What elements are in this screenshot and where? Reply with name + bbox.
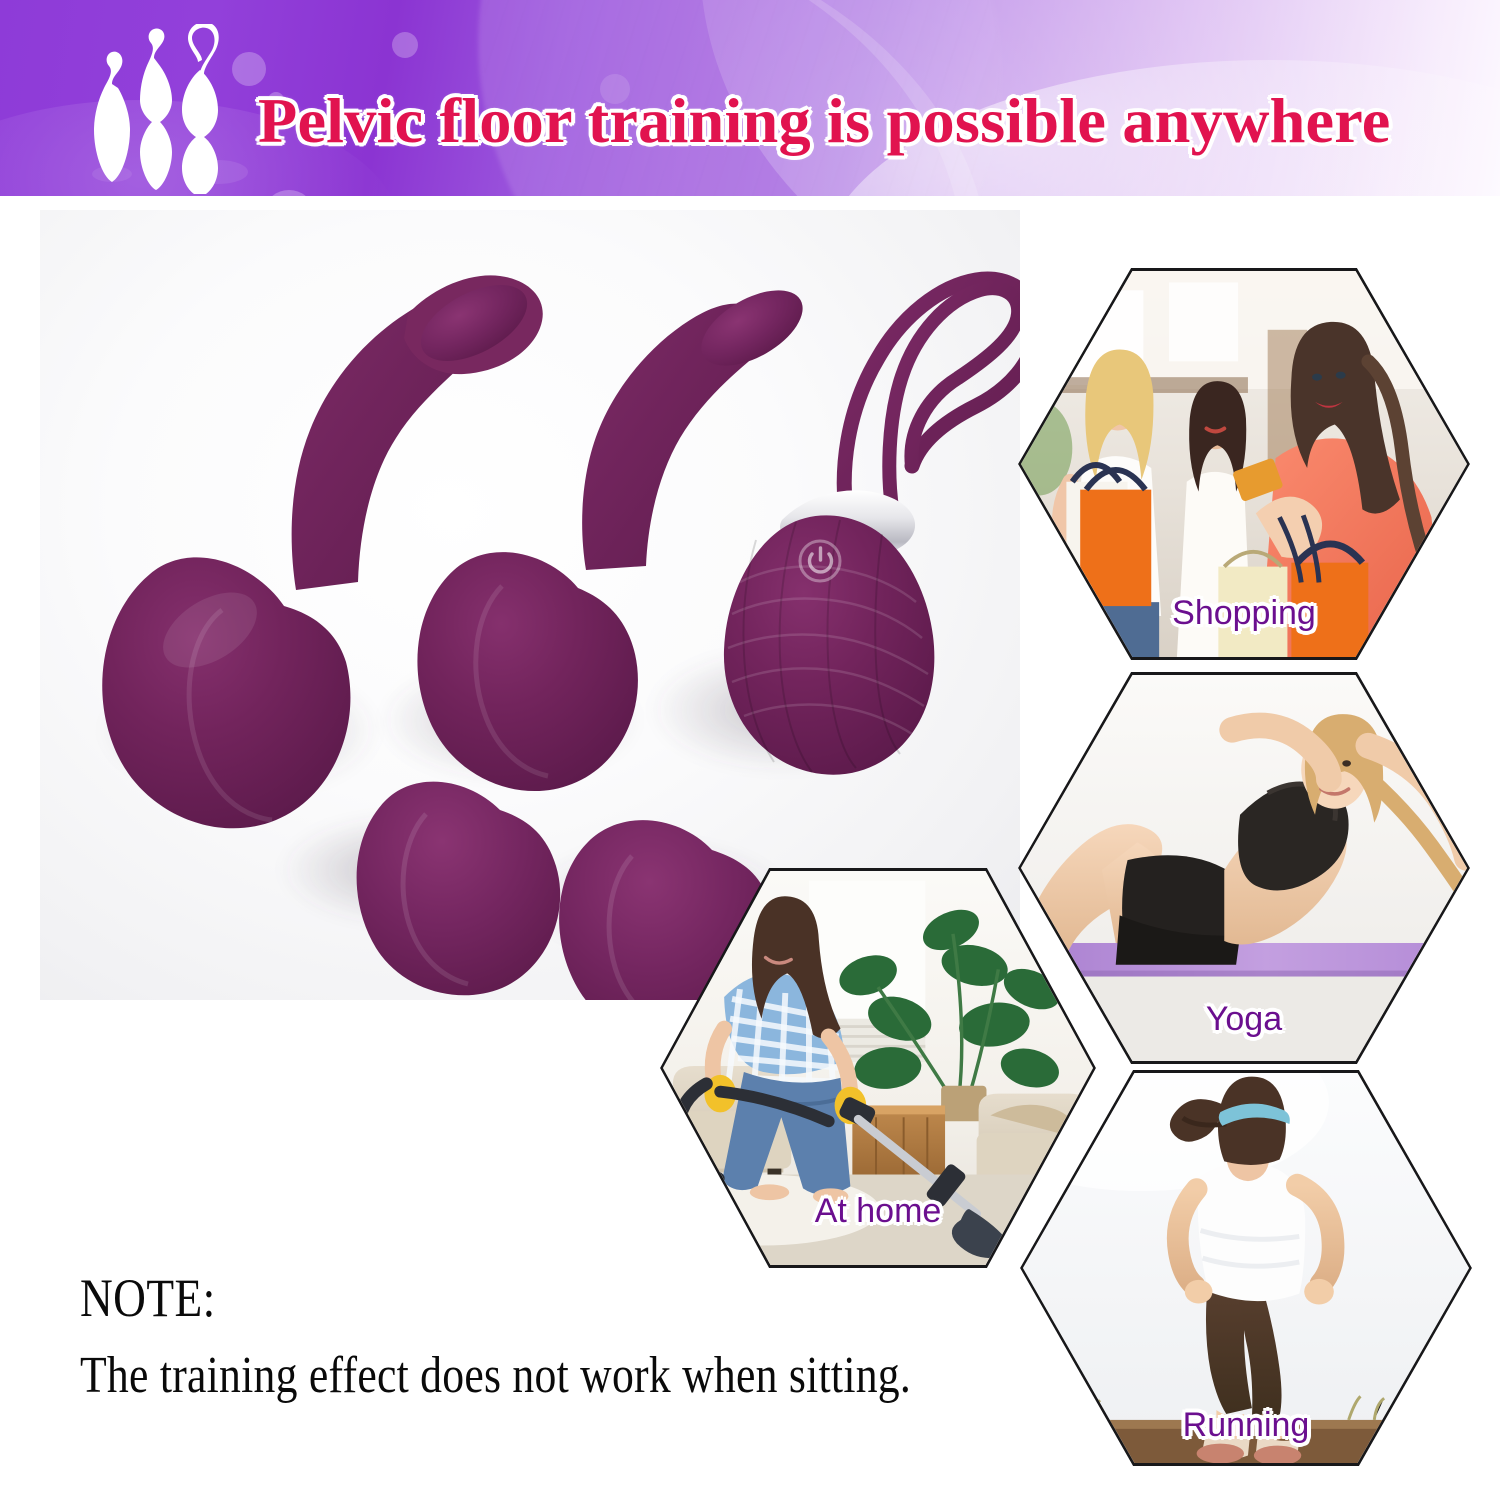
header-banner: Pelvic floor training is possible anywhe… [0, 0, 1500, 196]
hexagon-clip [1023, 1073, 1469, 1463]
note-block: NOTE: The training effect does not work … [80, 1268, 1080, 1408]
hexagon-clip [1021, 675, 1467, 1061]
photo-women-shopping-bags [1021, 271, 1467, 657]
hexagon-card-yoga[interactable]: Yoga [1018, 672, 1470, 1064]
kegel-balls-logo [78, 24, 243, 194]
photo-woman-doing-crunches-on-mat [1021, 675, 1467, 1061]
photo-woman-jogging-outdoors [1023, 1073, 1469, 1463]
banner-bubble [266, 190, 312, 196]
hexagon-card-shopping[interactable]: Shopping [1018, 268, 1470, 660]
note-title: NOTE: [80, 1268, 920, 1328]
page-title: Pelvic floor training is possible anywhe… [258, 86, 1462, 156]
hexagon-card-running[interactable]: Running [1020, 1070, 1472, 1466]
banner-bubble [392, 32, 418, 58]
infographic-canvas: Pelvic floor training is possible anywhe… [0, 0, 1500, 1500]
hexagon-clip [1021, 271, 1467, 657]
note-text: The training effect does not work when s… [80, 1344, 920, 1408]
